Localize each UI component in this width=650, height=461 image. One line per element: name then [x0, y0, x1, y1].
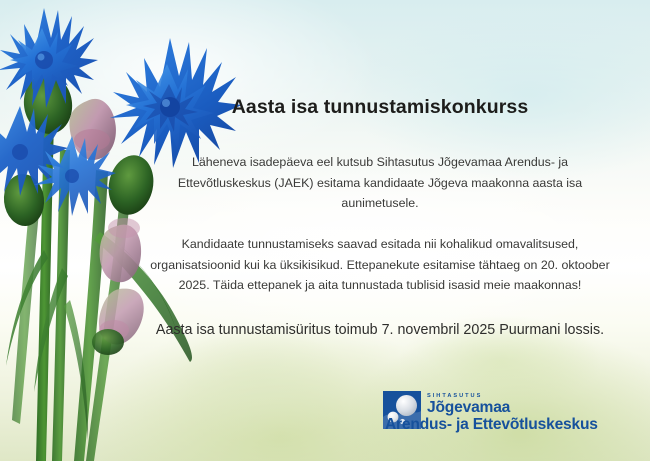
jaek-logo: SIHTASUTUS Jõgevamaa Arendus- ja Ettevõt…	[383, 391, 628, 437]
paragraph-intro: Läheneva isadepäeva eel kutsub Sihtasutu…	[150, 152, 610, 214]
jaek-logo-wordmark: SIHTASUTUS Jõgevamaa Arendus- ja Ettevõt…	[427, 391, 598, 433]
paragraph-event: Aasta isa tunnustamisüritus toimub 7. no…	[150, 320, 610, 341]
logo-subtitle: Arendus- ja Ettevõtluskeskus	[385, 416, 598, 433]
page-title: Aasta isa tunnustamiskonkurss	[150, 96, 610, 119]
poster-canvas: Aasta isa tunnustamiskonkurss Läheneva i…	[0, 0, 650, 461]
paragraph-details: Kandidaate tunnustamiseks saavad esitada…	[150, 234, 610, 296]
logo-name: Jõgevamaa	[427, 400, 598, 416]
